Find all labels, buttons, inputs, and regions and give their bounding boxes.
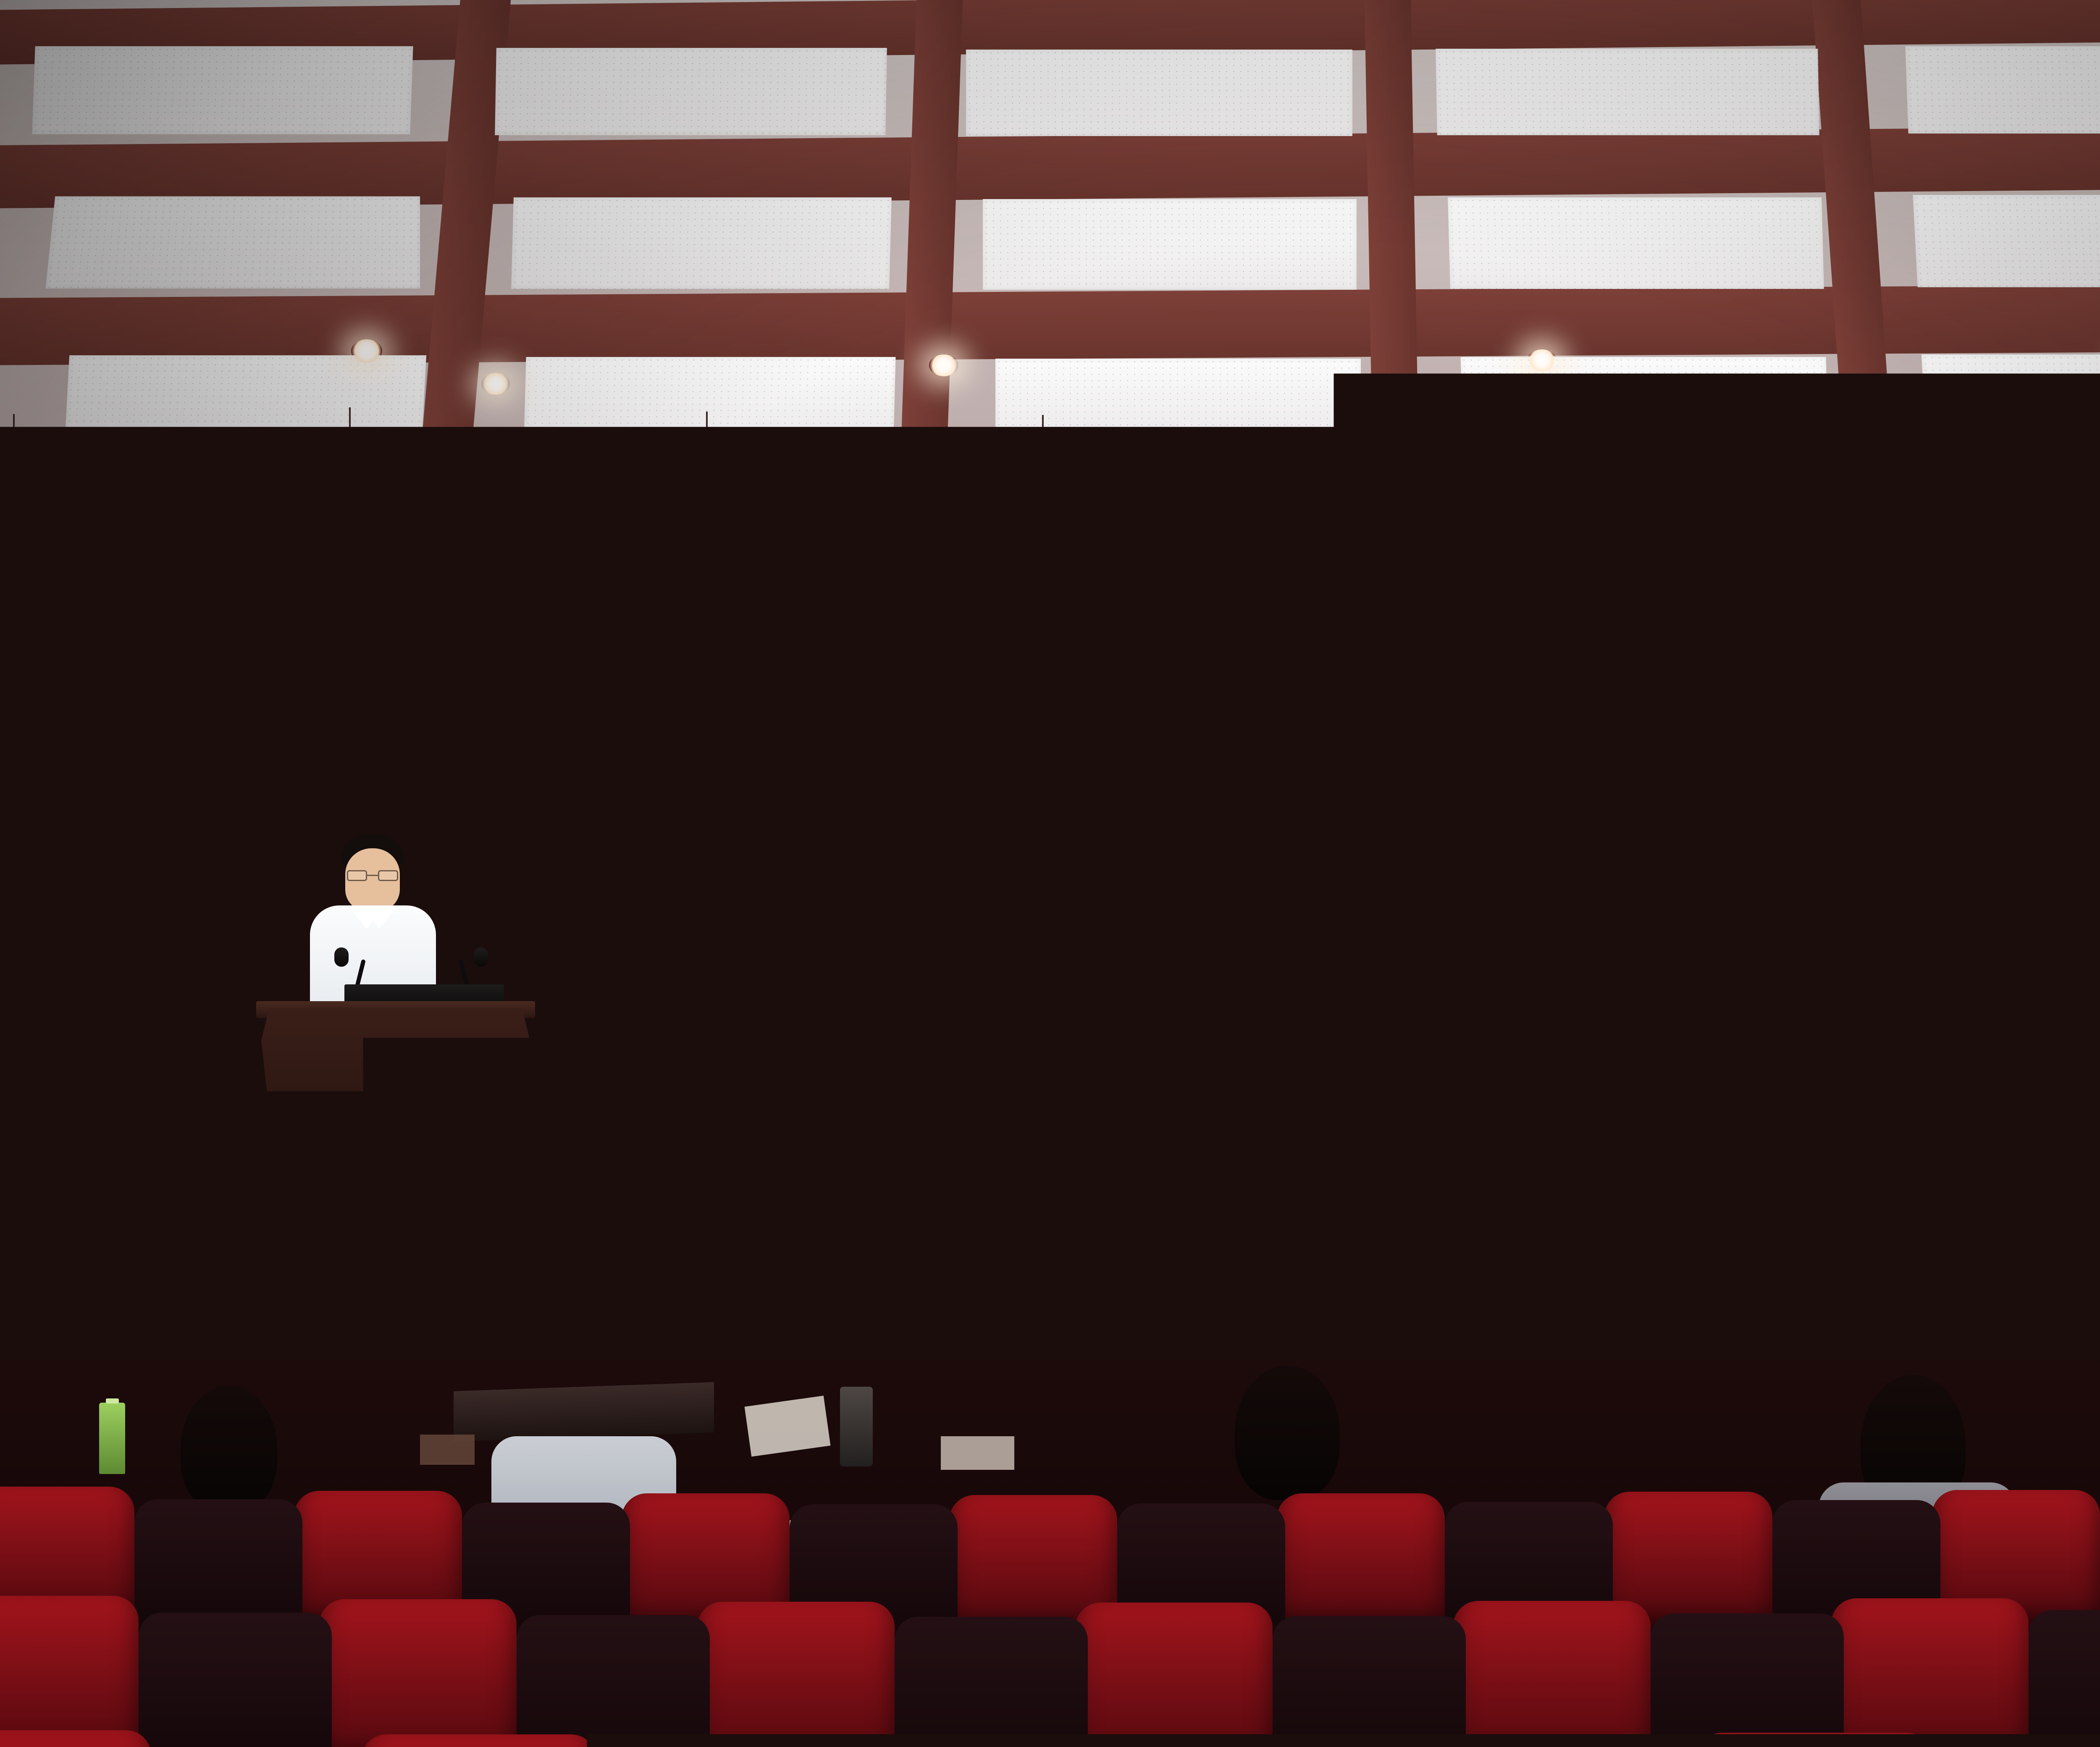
ceiling-downlight xyxy=(351,339,382,363)
seat xyxy=(361,1734,596,1747)
thermos-flask xyxy=(840,1387,873,1466)
audience-area xyxy=(0,1361,2100,1747)
caption-timer: 02:59:48 xyxy=(2090,945,2100,964)
stage-spotlight xyxy=(680,441,733,504)
seat xyxy=(1453,1601,1651,1747)
seat xyxy=(1651,1613,1844,1747)
seat xyxy=(139,1613,332,1747)
slide-title-en-line2: Symposium on the Frontiers of Biosensing xyxy=(366,731,2100,789)
microphone-head xyxy=(334,947,349,967)
ceiling xyxy=(0,0,2100,571)
seat xyxy=(697,1602,895,1747)
slide-date: 24 May, 2023 xyxy=(1302,894,1501,925)
attendee-head xyxy=(181,1386,277,1512)
name-card xyxy=(420,1435,475,1465)
microphone-head xyxy=(474,947,488,967)
seat xyxy=(0,1730,151,1747)
seat xyxy=(517,1615,710,1747)
stage-spotlight xyxy=(0,443,40,506)
dateline-rule-right xyxy=(1527,908,1745,912)
desk-papers xyxy=(745,1396,831,1456)
stage-spotlight xyxy=(1016,444,1069,507)
seat xyxy=(0,1596,139,1747)
university-name-en: SHANGQIU NORMAL UNIVERSITY xyxy=(444,643,716,656)
university-name-cn: 商丘师范学院 xyxy=(444,613,716,640)
podium-and-speaker: 商丘师范学院 Shangqiu Normal University xyxy=(294,832,529,1377)
slide-title-cn: 2023中-新生物传感前沿国际学术研讨会 xyxy=(366,791,2100,850)
ceiling-downlight xyxy=(481,373,510,395)
podium-name-en: Shangqiu Normal University xyxy=(349,1155,508,1164)
caption-text-en: Yeah, Thank you for the impressive talk.… xyxy=(2090,968,2100,1074)
podium-name-cn: 商丘师范学院 xyxy=(349,1125,508,1157)
taskbar-app-powerpoint[interactable]: P xyxy=(1549,1165,1570,1186)
windows-taskbar: 搜索 P xyxy=(366,1158,2100,1193)
seat xyxy=(1697,1733,1932,1747)
campus-illustration xyxy=(366,976,2100,1157)
microphone-icon xyxy=(2084,620,2092,633)
zoom-app-icon xyxy=(1620,1166,1640,1186)
ceiling-downlight xyxy=(1754,474,1781,494)
seat xyxy=(1277,1493,1445,1632)
ceiling-downlight xyxy=(1527,349,1557,371)
auditorium-scene: 商丘师范学院 SHANGQIU NORMAL UNIV 商丘师范学院 SHANG… xyxy=(0,0,2100,1747)
attendee-head xyxy=(546,1335,643,1457)
search-placeholder: 搜索 xyxy=(1218,1167,1241,1184)
stage-spotlight xyxy=(323,437,376,500)
slide-dateline: 24 May, 2023 xyxy=(366,894,2100,925)
seat xyxy=(806,1737,1042,1747)
speaker-glasses xyxy=(347,870,398,881)
stage-spotlight xyxy=(2041,435,2094,498)
seat xyxy=(895,1617,1088,1747)
presentation-slide: 商丘师范学院 SHANGQIU NORMAL UNIV 商丘师范学院 SHANG… xyxy=(366,601,2100,1193)
caption-text-cn: 是的，谢谢你令人印象深刻的演讲。所以我认为由于时间问题，我没有时间提问。因此，如… xyxy=(2090,1075,2100,1105)
seat xyxy=(1075,1603,1273,1747)
stage-spotlight xyxy=(1693,439,1746,502)
wemeet-icon xyxy=(1585,1166,1604,1186)
university-crest-icon: 商丘师范学院 SHANGQIU NORMAL UNIV xyxy=(389,612,433,656)
slide-title-en-line1: 2023 China and New Zealand International xyxy=(366,673,2100,731)
led-screen-frame: 商丘师范学院 SHANGQIU NORMAL UNIV 商丘师范学院 SHANG… xyxy=(361,595,2100,1196)
dateline-rule-left xyxy=(1057,908,1276,912)
seat xyxy=(1273,1616,1466,1747)
slide-titles: 2023 China and New Zealand International… xyxy=(366,673,2100,851)
avatar-icon xyxy=(2078,723,2094,739)
zoom-speaking-label: 正在讲话: SQNormalUnivers... xyxy=(2097,618,2100,635)
podium xyxy=(261,1008,530,1335)
windows-start-icon[interactable] xyxy=(1162,1167,1179,1184)
zoom-speaker-tile[interactable]: SQNormalUniversity xyxy=(2078,638,2100,741)
seat xyxy=(1252,1736,1487,1747)
university-crest-icon xyxy=(391,1050,445,1104)
search-icon xyxy=(1201,1171,1211,1181)
seat xyxy=(319,1599,517,1747)
powerpoint-icon: P xyxy=(1550,1166,1569,1186)
ceiling-downlight xyxy=(259,473,288,495)
water-bottle xyxy=(99,1403,125,1474)
zoom-video-panel[interactable]: 正在讲话: SQNormalUnivers... ⟸ SQNormalUnive… xyxy=(2078,615,2100,741)
search-input[interactable]: 搜索 xyxy=(1189,1165,1521,1187)
stage-spotlight xyxy=(1361,442,1414,505)
ceiling-downlight xyxy=(929,354,958,376)
taskbar-app-wemeet[interactable] xyxy=(1584,1165,1605,1186)
live-caption-panel[interactable]: 02:59:48 ✕ Yeah, Thank you for the impre… xyxy=(2081,938,2100,1139)
ceiling-downlight xyxy=(509,481,537,502)
zoom-participant-nametag: SQNormalUniversity xyxy=(2078,721,2100,741)
name-card xyxy=(941,1436,1014,1470)
university-logo: 商丘师范学院 SHANGQIU NORMAL UNIV 商丘师范学院 SHANG… xyxy=(389,612,716,656)
seat xyxy=(2029,1610,2100,1747)
taskbar-app-zoom[interactable] xyxy=(1620,1165,1641,1186)
zoom-speaking-bar: 正在讲话: SQNormalUnivers... ⟸ xyxy=(2078,615,2100,638)
seat xyxy=(1831,1598,2029,1747)
attendee-head xyxy=(1235,1366,1340,1500)
